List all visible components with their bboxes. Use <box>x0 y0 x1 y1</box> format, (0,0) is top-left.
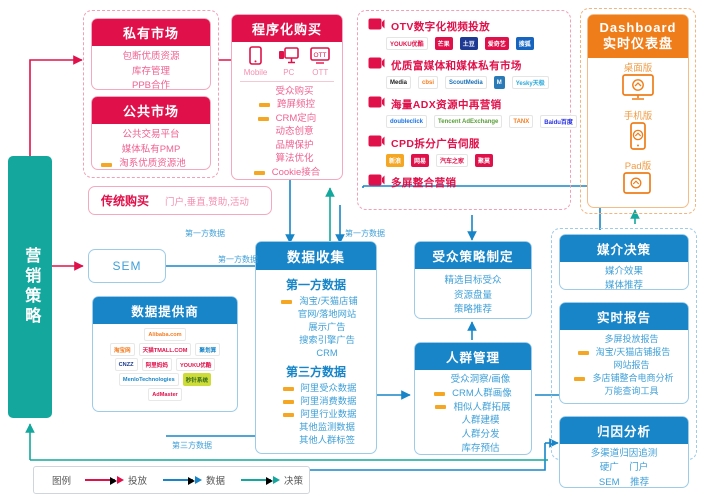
list-item: 多店铺整合电商分析 <box>560 372 688 385</box>
bullet-marker <box>258 117 269 121</box>
list-item-label: 公共交易平台 <box>122 128 179 143</box>
list-item: 媒体推荐 <box>560 279 688 293</box>
traditional-buy-desc: 门户,垂直,赞助,活动 <box>165 194 249 208</box>
cpd-serving-icon <box>368 134 385 152</box>
legend-item-label: 数据 <box>206 473 225 487</box>
sem-label: SEM <box>112 259 141 273</box>
list-item: 精选目标受众 <box>415 274 531 289</box>
data-collection-subtitle: 第三方数据 <box>256 363 376 380</box>
list-item-label: 网站报告 <box>613 359 649 372</box>
mobile-dashboard-icon <box>588 122 688 156</box>
legend-item: 决策 <box>241 473 303 487</box>
list-item-label: 动态创意 <box>275 125 313 138</box>
audience-strategy-title: 受众策略制定 <box>415 242 531 269</box>
marketing-strategy-label: 营销策略 <box>20 247 40 327</box>
public-market-list: 公共交易平台媒体私有PMP淘系优质资源池 <box>92 124 210 172</box>
svg-text:OTT: OTT <box>314 52 327 59</box>
programmatic-buy-title: 程序化购买 <box>232 15 342 42</box>
list-item: 阿里受众数据 <box>263 382 376 395</box>
data-collection-list: 阿里受众数据阿里消费数据阿里行业数据其他监测数据其他人群标签 <box>256 382 376 447</box>
bullet-marker <box>101 163 112 167</box>
private-market-list: 包断优质资源库存管理PPB合作 <box>92 46 210 94</box>
list-item: 展示广告 <box>278 321 376 334</box>
attribution-list: 多渠道归因追测硬广 门户SEM 推荐 <box>560 444 688 490</box>
list-item: 搜索引擎广告 <box>278 334 376 347</box>
logo-mangotv: 芒果 <box>435 37 453 50</box>
legend-item: 投放 <box>85 473 147 487</box>
dashboard-device-desktop[interactable]: 桌面版 <box>588 60 688 106</box>
list-item-label: 跨屏频控 <box>277 98 315 111</box>
otv-video-icon <box>368 17 385 35</box>
list-item-label: 策略推荐 <box>454 303 492 318</box>
traditional-buy-title: 传统购买 <box>101 192 149 209</box>
list-item-label: 包断优质资源 <box>122 50 179 65</box>
list-item: 媒介效果 <box>560 265 688 279</box>
data-collection-groups: 第一方数据淘宝/天猫店铺官网/落地网站展示广告搜索引擎广告CRM第三方数据阿里受… <box>256 270 376 447</box>
data-collection-card[interactable]: 数据收集 第一方数据淘宝/天猫店铺官网/落地网站展示广告搜索引擎广告CRM第三方… <box>255 241 377 454</box>
logo-yesky: Yesky天极 <box>512 76 549 89</box>
divider <box>240 81 334 82</box>
attribution-title: 归因分析 <box>560 417 688 444</box>
list-item-label: 多店铺整合电商分析 <box>592 372 673 385</box>
logo-sina-weibo: 新浪 <box>386 154 404 167</box>
list-item-label: 媒体推荐 <box>605 279 643 293</box>
diagram-canvas: 营销策略 私有市场 包断优质资源库存管理PPB合作 公共市场 公共交易平台媒体私… <box>0 0 702 500</box>
list-item-label: 资源盘量 <box>454 289 492 304</box>
desktop-icon <box>279 46 299 68</box>
list-item: PPB合作 <box>92 79 210 94</box>
audience-strategy-card[interactable]: 受众策略制定 精选目标受众资源盘量策略推荐 <box>414 241 532 319</box>
programmatic-device-row: Mobile PC OTT OTT <box>232 42 342 77</box>
logo-iqiyi: 爱奇艺 <box>485 37 509 50</box>
inventory-row-title: 多屏整合营销 <box>391 175 456 190</box>
logo-row: MenloTechnologies秒针系统 <box>98 373 232 386</box>
list-item: SEM 推荐 <box>560 476 688 490</box>
dashboard-device-mobile[interactable]: 手机版 <box>588 108 688 156</box>
crowd-management-title: 人群管理 <box>415 343 531 370</box>
dashboard-title-en: Dashboard <box>588 20 688 36</box>
realtime-report-list: 多屏投放报告淘宝/天猫店铺报告网站报告多店铺整合电商分析万能查询工具 <box>560 330 688 398</box>
programmatic-buy-card[interactable]: 程序化购买 Mobile PC OTT OTT 受众购买跨 <box>231 14 343 180</box>
logo-row: 淘宝网天猫TMALL.COM聚划算 <box>98 343 232 356</box>
dashboard-card[interactable]: Dashboard 实时仪表盘 桌面版 手机版 Pad版 <box>587 14 689 208</box>
device-mobile: Mobile <box>244 46 268 77</box>
inventory-rows: OTV数字化视频投放YOUKU优酷芒果土豆爱奇艺搜狐优质富媒体和媒体私有市场Me… <box>358 11 570 199</box>
logo-juhuasuan: 聚划算 <box>195 343 220 356</box>
data-provider-title: 数据提供商 <box>93 297 237 324</box>
logo-scoutmedia: ScoutMedia <box>445 76 487 89</box>
list-item: CRM <box>278 347 376 360</box>
logo-cbsi: cbsi <box>418 76 438 89</box>
bullet-marker <box>281 300 292 304</box>
arrow-label-first-party-b: 第一方数据 <box>218 254 258 265</box>
list-item-label: 库存预估 <box>461 442 499 456</box>
logo-row: Alibaba.com <box>98 328 232 341</box>
list-item: 人群建模 <box>430 414 531 428</box>
rich-media-icon <box>368 56 385 74</box>
media-decision-list: 媒介效果媒体推荐 <box>560 262 688 294</box>
logo-row: CNZZ阿里妈妈YOUKU优酷 <box>98 358 232 371</box>
list-item: CRM人群画像 <box>415 387 531 401</box>
logo-menlotechnologies: MenloTechnologies <box>119 373 179 386</box>
dashboard-desktop-label: 桌面版 <box>588 60 688 74</box>
list-item-label: 精选目标受众 <box>444 274 501 289</box>
device-ott-label: OTT <box>312 68 328 77</box>
list-item-label: 硬广 门户 <box>600 461 649 475</box>
logo-youku: YOUKU优酷 <box>386 37 428 50</box>
list-item-label: 受众购买 <box>275 85 313 98</box>
list-item: 库存管理 <box>92 65 210 80</box>
list-item-label: 人群建模 <box>461 414 499 428</box>
legend-arrowhead <box>117 476 124 484</box>
list-item-label: 阿里消费数据 <box>301 395 357 408</box>
list-item-label: 受众洞察/画像 <box>451 373 511 387</box>
logo-taobao: 淘宝网 <box>110 343 135 356</box>
list-item: 淘宝/天猫店铺报告 <box>560 346 688 359</box>
logo-sohu: 搜狐 <box>516 37 534 50</box>
inventory-row-title: CPD拆分广告伺服 <box>391 136 480 151</box>
inventory-row[interactable]: 优质富媒体和媒体私有市场 <box>368 56 568 74</box>
dashboard-title: Dashboard 实时仪表盘 <box>588 15 688 58</box>
logo-cnzz: CNZZ <box>115 358 138 371</box>
inventory-row[interactable]: OTV数字化视频投放 <box>368 17 568 35</box>
audience-strategy-list: 精选目标受众资源盘量策略推荐 <box>415 269 531 318</box>
list-item: 其他人群标签 <box>278 434 376 447</box>
logo-juxiao: 聚莫 <box>475 154 493 167</box>
legend-arrow <box>163 479 193 481</box>
data-collection-subtitle: 第一方数据 <box>256 276 376 293</box>
logo-tencent-adexchange: Tencent AdExchange <box>434 115 502 128</box>
logo-pinmedia: Media <box>386 76 411 89</box>
inventory-row[interactable]: 多屏整合营销 <box>368 173 568 191</box>
logo-tmall: 天猫TMALL.COM <box>139 343 192 356</box>
logo-autohome: 汽车之家 <box>436 154 468 167</box>
public-market-card[interactable]: 公共市场 公共交易平台媒体私有PMP淘系优质资源池 <box>91 96 211 170</box>
list-item-label: CRM人群画像 <box>452 387 512 401</box>
list-item-label: 品牌保护 <box>275 139 313 152</box>
traditional-buy-card[interactable]: 传统购买 门户,垂直,赞助,活动 <box>88 186 272 215</box>
list-item-label: 人群分发 <box>461 428 499 442</box>
list-item: 资源盘量 <box>415 289 531 304</box>
list-item: 受众洞察/画像 <box>430 373 531 387</box>
dashboard-device-pad[interactable]: Pad版 <box>588 158 688 200</box>
list-item-label: 库存管理 <box>132 65 170 80</box>
list-item-label: 阿里受众数据 <box>301 382 357 395</box>
bullet-marker <box>283 387 294 391</box>
programmatic-buy-list: 受众购买跨屏频控CRM定向动态创意品牌保护算法优化Cookie接合 <box>232 85 342 179</box>
crowd-management-card[interactable]: 人群管理 受众洞察/画像CRM人群画像相似人群拓展人群建模人群分发库存预估 <box>414 342 532 455</box>
logo-greenish-partner: 秒针系统 <box>183 373 211 386</box>
legend-arrow <box>241 479 271 481</box>
mobile-icon <box>244 46 268 68</box>
logo-alibaba: Alibaba.com <box>144 328 185 341</box>
legend-item: 数据 <box>163 473 225 487</box>
legend-arrowhead <box>195 476 202 484</box>
list-item: 万能查询工具 <box>575 385 688 398</box>
list-item: 跨屏频控 <box>232 98 342 111</box>
crowd-management-list: 受众洞察/画像CRM人群画像相似人群拓展人群建模人群分发库存预估 <box>415 370 531 456</box>
list-item: 网站报告 <box>575 359 688 372</box>
data-provider-card[interactable]: 数据提供商 Alibaba.com淘宝网天猫TMALL.COM聚划算CNZZ阿里… <box>92 296 238 412</box>
list-item: 官网/落地网站 <box>278 308 376 321</box>
list-item: 受众购买 <box>247 85 342 98</box>
legend-label: 图例 <box>52 473 71 487</box>
list-item-label: 淘宝/天猫店铺 <box>299 295 357 308</box>
list-item: CRM定向 <box>232 112 342 125</box>
list-item: 动态创意 <box>247 125 342 138</box>
list-item: 多渠道归因追测 <box>560 447 688 461</box>
list-item: 阿里消费数据 <box>263 395 376 408</box>
list-item-label: 相似人群拓展 <box>453 401 510 415</box>
legend-arrow <box>85 479 115 481</box>
logo-row: MediacbsiScoutMediaMYesky天极 <box>386 76 568 89</box>
list-item: 策略推荐 <box>415 303 531 318</box>
logo-youku2: YOUKU优酷 <box>176 358 215 371</box>
legend-items: 投放数据决策 <box>85 473 303 487</box>
tablet-dashboard-icon <box>588 172 688 200</box>
logo-doubleclick: doubleclick <box>386 115 427 128</box>
list-item-label: 官网/落地网站 <box>298 308 356 321</box>
list-item-label: 多渠道归因追测 <box>591 447 658 461</box>
realtime-report-title: 实时报告 <box>560 303 688 330</box>
logo-row: YOUKU优酷芒果土豆爱奇艺搜狐 <box>386 37 568 50</box>
list-item: 包断优质资源 <box>92 50 210 65</box>
inventory-row-title: 优质富媒体和媒体私有市场 <box>391 58 522 73</box>
media-decision-card[interactable]: 媒介决策 媒介效果媒体推荐 <box>559 234 689 290</box>
adx-retarget-icon <box>368 95 385 113</box>
list-item-label: 展示广告 <box>308 321 345 334</box>
list-item-label: Cookie接合 <box>272 166 321 179</box>
legend-item-label: 投放 <box>128 473 147 487</box>
logo-row: doubleclickTencent AdExchangeTANXBaidu百度 <box>386 115 568 128</box>
inventory-panel-container: OTV数字化视频投放YOUKU优酷芒果土豆爱奇艺搜狐优质富媒体和媒体私有市场Me… <box>357 10 571 210</box>
list-item-label: 淘系优质资源池 <box>119 157 186 172</box>
multiscreen-icon <box>368 173 385 191</box>
bullet-marker <box>574 377 585 381</box>
list-item-label: 淘宝/天猫店铺报告 <box>596 346 671 359</box>
sem-card[interactable]: SEM <box>88 249 166 283</box>
list-item: 人群分发 <box>430 428 531 442</box>
list-item-label: 多屏投放报告 <box>604 333 658 346</box>
legend-item-label: 决策 <box>284 473 303 487</box>
list-item: 其他监测数据 <box>278 421 376 434</box>
bullet-marker <box>435 405 446 409</box>
inventory-row[interactable]: 海量ADX资源中再营销 <box>368 95 568 113</box>
list-item-label: CRM定向 <box>276 112 317 125</box>
logo-taobao-tanx: TANX <box>509 115 533 128</box>
logo-tudou: 土豆 <box>460 37 478 50</box>
inventory-row-title: 海量ADX资源中再营销 <box>391 97 502 112</box>
list-item: 多屏投放报告 <box>575 333 688 346</box>
public-market-title: 公共市场 <box>92 97 210 124</box>
list-item-label: PPB合作 <box>132 79 170 94</box>
data-collection-title: 数据收集 <box>256 242 376 270</box>
list-item-label: 万能查询工具 <box>604 385 658 398</box>
realtime-report-card[interactable]: 实时报告 多屏投放报告淘宝/天猫店铺报告网站报告多店铺整合电商分析万能查询工具 <box>559 302 689 404</box>
list-item-label: 媒介效果 <box>605 265 643 279</box>
inventory-row[interactable]: CPD拆分广告伺服 <box>368 134 568 152</box>
bullet-marker <box>283 413 294 417</box>
bullet-marker <box>283 400 294 404</box>
logo-admaster: AdMaster <box>148 388 182 401</box>
logo-row: 新浪网易汽车之家聚莫 <box>386 154 568 167</box>
dashboard-mobile-label: 手机版 <box>588 108 688 122</box>
logo-media2: M <box>494 76 505 89</box>
arrow-label-first-party-c: 第一方数据 <box>345 228 385 239</box>
list-item: 淘宝/天猫店铺 <box>263 295 376 308</box>
list-item: 算法优化 <box>247 152 342 165</box>
media-decision-title: 媒介决策 <box>560 235 688 262</box>
marketing-strategy-block[interactable]: 营销策略 <box>8 156 52 418</box>
list-item-label: 媒体私有PMP <box>122 143 181 158</box>
arrow-label-first-party-a: 第一方数据 <box>185 228 225 239</box>
legend: 图例 投放数据决策 <box>33 466 310 494</box>
inventory-row-title: OTV数字化视频投放 <box>391 19 490 34</box>
logo-wangyi: 网易 <box>411 154 429 167</box>
ott-icon: OTT <box>310 46 330 68</box>
logo-alimama: 阿里妈妈 <box>142 358 172 371</box>
list-item: 品牌保护 <box>247 139 342 152</box>
list-item-label: 其他监测数据 <box>299 421 355 434</box>
list-item: 公共交易平台 <box>92 128 210 143</box>
data-provider-logos: Alibaba.com淘宝网天猫TMALL.COM聚划算CNZZ阿里妈妈YOUK… <box>93 324 237 407</box>
list-item: 淘系优质资源池 <box>77 157 210 172</box>
list-item-label: 算法优化 <box>275 152 313 165</box>
list-item-label: SEM 推荐 <box>599 476 649 490</box>
dashboard-title-cn: 实时仪表盘 <box>588 36 688 52</box>
desktop-dashboard-icon <box>588 74 688 106</box>
list-item: 相似人群拓展 <box>415 401 531 415</box>
list-item: 库存预估 <box>430 442 531 456</box>
private-market-title: 私有市场 <box>92 19 210 46</box>
list-item: Cookie接合 <box>232 166 342 179</box>
bullet-marker <box>254 171 265 175</box>
list-item-label: CRM <box>316 347 337 360</box>
device-mobile-label: Mobile <box>244 68 268 77</box>
bullet-marker <box>578 351 589 355</box>
list-item-label: 其他人群标签 <box>299 434 355 447</box>
dashboard-pad-label: Pad版 <box>588 158 688 172</box>
device-pc: PC <box>279 46 299 77</box>
arrow-label-third-party: 第三方数据 <box>172 440 212 451</box>
bullet-marker <box>434 392 445 396</box>
list-item: 阿里行业数据 <box>263 408 376 421</box>
device-ott: OTT OTT <box>310 46 330 77</box>
list-item-label: 搜索引擎广告 <box>299 334 355 347</box>
private-market-card[interactable]: 私有市场 包断优质资源库存管理PPB合作 <box>91 18 211 90</box>
list-item-label: 阿里行业数据 <box>301 408 357 421</box>
logo-baidu: Baidu百度 <box>540 115 577 128</box>
device-pc-label: PC <box>283 68 294 77</box>
attribution-card[interactable]: 归因分析 多渠道归因追测硬广 门户SEM 推荐 <box>559 416 689 488</box>
list-item: 硬广 门户 <box>560 461 688 475</box>
legend-arrowhead <box>273 476 280 484</box>
data-collection-list: 淘宝/天猫店铺官网/落地网站展示广告搜索引擎广告CRM <box>256 295 376 360</box>
logo-row: AdMaster <box>98 388 232 401</box>
list-item: 媒体私有PMP <box>92 143 210 158</box>
bullet-marker <box>259 103 270 107</box>
